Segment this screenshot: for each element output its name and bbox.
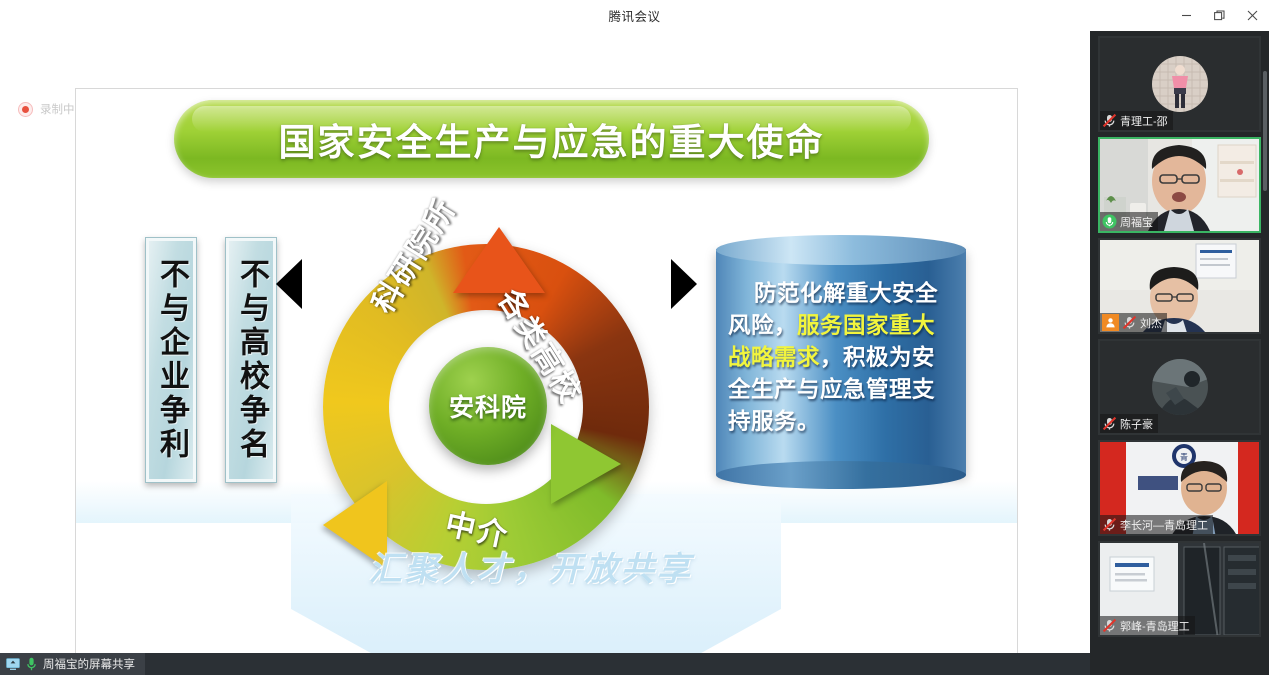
tile-footer: 周福宝 bbox=[1100, 212, 1158, 231]
participant-name: 刘杰 bbox=[1140, 315, 1162, 331]
participant-tile[interactable]: 青 bbox=[1098, 440, 1261, 536]
participant-tile[interactable]: 陈子豪 bbox=[1098, 339, 1261, 435]
cylinder-bottom bbox=[716, 461, 966, 489]
microphone-muted-icon bbox=[1102, 517, 1117, 532]
plaque-no-profit-competition: 不与企业争利 bbox=[145, 237, 197, 483]
plaque-label: 不与企业争利 bbox=[149, 258, 193, 462]
tile-footer: 青理工-邵 bbox=[1100, 111, 1173, 130]
title-bar: 腾讯会议 bbox=[0, 0, 1269, 31]
microphone-active-icon bbox=[1102, 214, 1117, 229]
shared-screen-stage: 录制中 国家安全生产与应急的重大使命 不与企业争利 不与高校争名 bbox=[0, 31, 1090, 653]
microphone-muted-icon bbox=[1102, 113, 1117, 128]
avatar-image bbox=[1152, 56, 1208, 112]
participant-tile[interactable]: 郭峰-青岛理工 bbox=[1098, 541, 1261, 637]
screen-share-icon bbox=[6, 658, 20, 670]
microphone-muted-icon bbox=[1102, 416, 1117, 431]
microphone-muted-icon bbox=[1122, 315, 1137, 330]
participant-tile[interactable]: 青理工-邵 bbox=[1098, 36, 1261, 132]
triangle-right-icon bbox=[671, 259, 697, 309]
share-status-label: 周福宝的屏幕共享 bbox=[43, 656, 135, 672]
cylinder-top bbox=[716, 235, 966, 265]
participant-name: 青理工-邵 bbox=[1120, 113, 1168, 129]
cylinder-line-3-plain: ， bbox=[820, 345, 843, 371]
window-controls bbox=[1170, 0, 1269, 31]
close-icon bbox=[1247, 10, 1258, 21]
bottom-bar bbox=[0, 653, 1090, 675]
participant-name: 李长河—青岛理工 bbox=[1120, 517, 1208, 533]
cylinder-text: 防范化解重大安全风险，服务国家重大战略需求，积极为安全生产与应急管理支持服务。 bbox=[728, 279, 954, 439]
ring-center-node: 安科院 bbox=[429, 347, 547, 465]
window-title: 腾讯会议 bbox=[608, 6, 660, 25]
close-button[interactable] bbox=[1236, 0, 1269, 31]
slide-title-banner: 国家安全生产与应急的重大使命 bbox=[174, 100, 929, 178]
host-badge-icon bbox=[1102, 314, 1119, 331]
plaque-no-fame-competition: 不与高校争名 bbox=[225, 237, 277, 483]
presentation-slide: 国家安全生产与应急的重大使命 不与企业争利 不与高校争名 各类高校 科研院所 中… bbox=[75, 88, 1018, 653]
participant-name: 郭峰-青岛理工 bbox=[1120, 618, 1190, 634]
restore-icon bbox=[1214, 10, 1225, 21]
participant-tile[interactable]: 周福宝 bbox=[1098, 137, 1261, 233]
ring-center-label: 安科院 bbox=[449, 388, 527, 424]
tile-footer: 郭峰-青岛理工 bbox=[1100, 616, 1195, 635]
cycle-diagram: 各类高校 科研院所 中介 安科院 bbox=[301, 229, 671, 589]
tencent-meeting-window: 腾讯会议 录制中 bbox=[0, 0, 1269, 675]
participant-name: 陈子豪 bbox=[1120, 416, 1153, 432]
record-dot-icon bbox=[18, 102, 33, 117]
arrow-head-right-icon bbox=[551, 424, 621, 504]
slide-title: 国家安全生产与应急的重大使命 bbox=[279, 112, 825, 166]
microphone-icon bbox=[26, 657, 37, 671]
rail-scrollbar[interactable] bbox=[1263, 71, 1267, 191]
avatar bbox=[1152, 56, 1208, 112]
recording-indicator: 录制中 bbox=[18, 101, 75, 117]
recording-label: 录制中 bbox=[40, 101, 75, 117]
slide-slogan: 汇聚人才，开放共享 bbox=[331, 542, 731, 590]
cylinder-line-1: 防范化解重大 bbox=[754, 281, 892, 307]
tile-footer: 陈子豪 bbox=[1100, 414, 1158, 433]
avatar-image bbox=[1152, 359, 1208, 415]
avatar bbox=[1152, 359, 1208, 415]
microphone-muted-icon bbox=[1102, 618, 1117, 633]
restore-button[interactable] bbox=[1203, 0, 1236, 31]
tile-footer: 刘杰 bbox=[1100, 313, 1167, 332]
minimize-button[interactable] bbox=[1170, 0, 1203, 31]
tile-footer: 李长河—青岛理工 bbox=[1100, 515, 1213, 534]
plaque-label: 不与高校争名 bbox=[229, 258, 273, 462]
arrow-head-top-icon bbox=[453, 227, 545, 293]
triangle-left-icon bbox=[276, 259, 302, 309]
screen-share-status[interactable]: 周福宝的屏幕共享 bbox=[0, 653, 145, 675]
participant-rail[interactable]: 青理工-邵 bbox=[1090, 31, 1269, 675]
participant-name: 周福宝 bbox=[1120, 214, 1153, 230]
cylinder-line-2-highlight: 服务国 bbox=[797, 313, 866, 339]
mission-cylinder: 防范化解重大安全风险，服务国家重大战略需求，积极为安全生产与应急管理支持服务。 bbox=[716, 235, 966, 489]
participant-tile[interactable]: 刘杰 bbox=[1098, 238, 1261, 334]
svg-text:青: 青 bbox=[1180, 452, 1188, 462]
minimize-icon bbox=[1181, 10, 1192, 21]
